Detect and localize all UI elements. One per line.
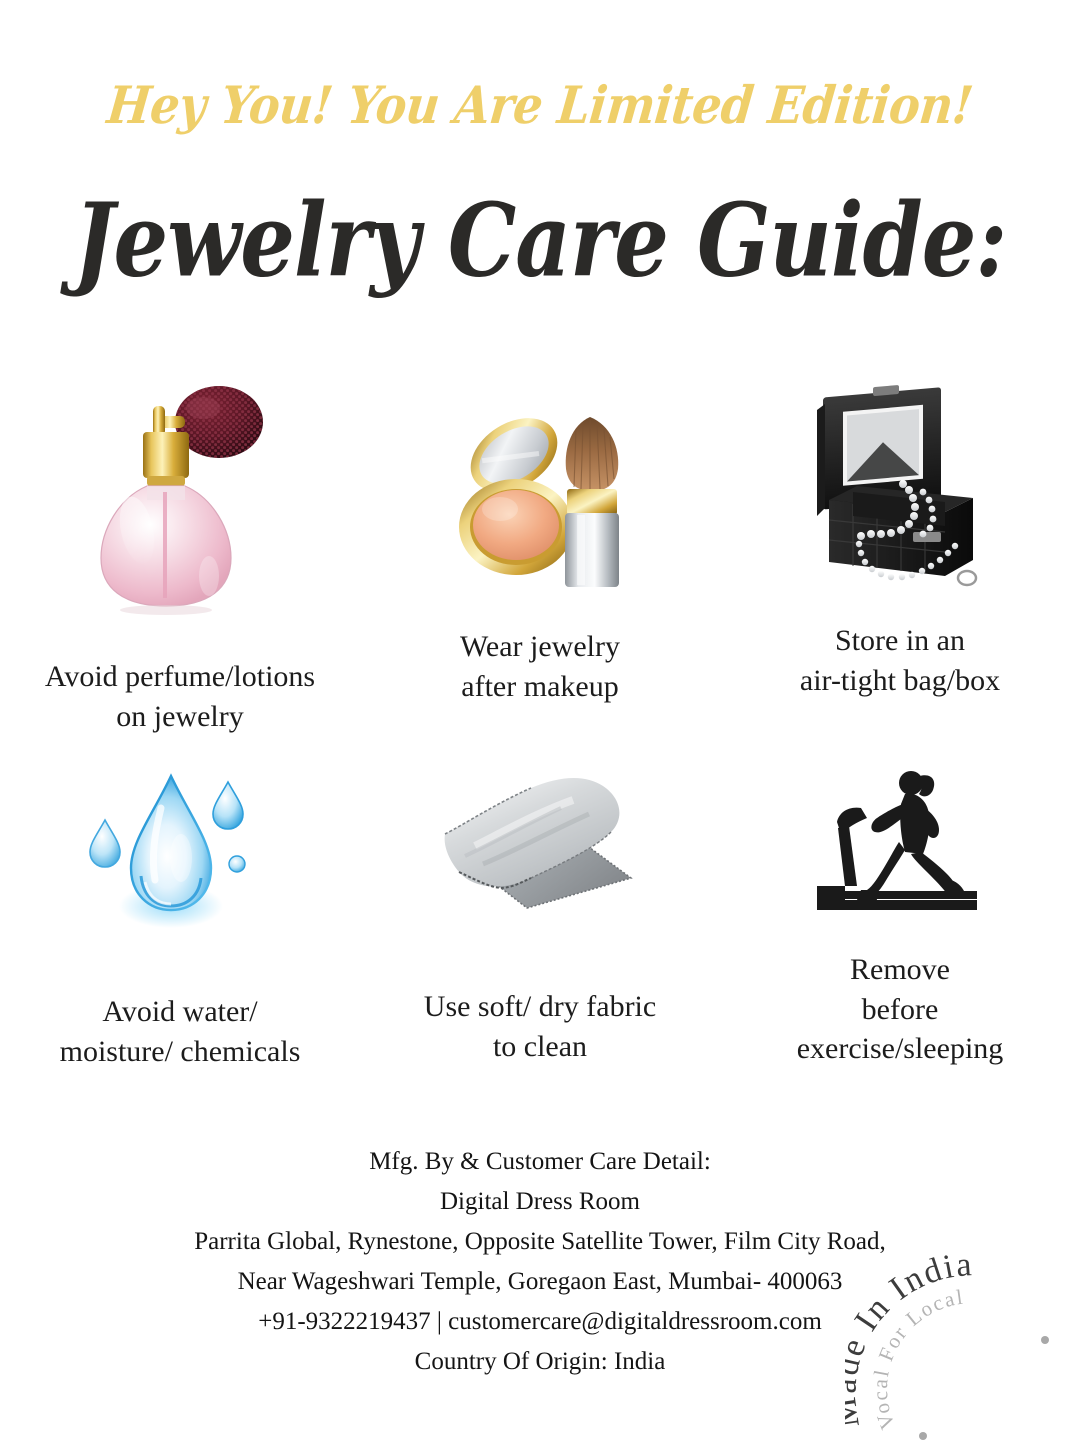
care-tip-caption: Store in an air-tight bag/box (800, 621, 1000, 700)
tagline: Hey You! You Are Limited Edition! (0, 75, 1080, 135)
makeup-compact-brush-icon (440, 380, 640, 595)
care-tip-remove-before-exercise: Remove before exercise/sleeping (720, 760, 1080, 1080)
badge-dot-right (1041, 1336, 1049, 1344)
page-title: Jewelry Care Guide: (0, 181, 1080, 300)
care-tip-caption: Use soft/ dry fabric to clean (424, 987, 656, 1066)
care-tip-soft-dry-fabric: Use soft/ dry fabric to clean (360, 760, 720, 1080)
care-tip-avoid-water: Avoid water/ moisture/ chemicals (0, 760, 360, 1080)
microfiber-cloth-icon (435, 760, 645, 925)
badge-dot-left (919, 1432, 927, 1440)
footer-line-heading: Mfg. By & Customer Care Detail: (0, 1142, 1080, 1182)
care-tips-grid: Avoid perfume/lotions on jewelry (0, 380, 1080, 1080)
care-tip-caption: Wear jewelry after makeup (460, 627, 620, 706)
care-tip-caption: Remove before exercise/sleeping (797, 950, 1004, 1069)
treadmill-runner-icon (805, 760, 995, 920)
care-tip-caption: Avoid water/ moisture/ chemicals (60, 992, 301, 1071)
care-tips-row-1: Avoid perfume/lotions on jewelry (0, 380, 1080, 760)
jewelry-box-icon (795, 380, 1005, 595)
jewelry-care-guide-page: Hey You! You Are Limited Edition! Jewelr… (0, 0, 1080, 1440)
care-tip-avoid-perfume: Avoid perfume/lotions on jewelry (0, 380, 360, 760)
perfume-atomizer-icon (85, 380, 275, 615)
water-droplet-icon (85, 760, 275, 940)
footer-line-company: Digital Dress Room (0, 1182, 1080, 1222)
care-tip-store-airtight: Store in an air-tight bag/box (720, 380, 1080, 760)
care-tip-caption: Avoid perfume/lotions on jewelry (45, 657, 315, 736)
made-in-india-badge: Made In India Vocal For Local (845, 1248, 1080, 1440)
badge-outer-text: Made In India (845, 1248, 975, 1430)
care-tips-row-2: Avoid water/ moisture/ chemicals (0, 760, 1080, 1080)
care-tip-wear-after-makeup: Wear jewelry after makeup (360, 380, 720, 760)
